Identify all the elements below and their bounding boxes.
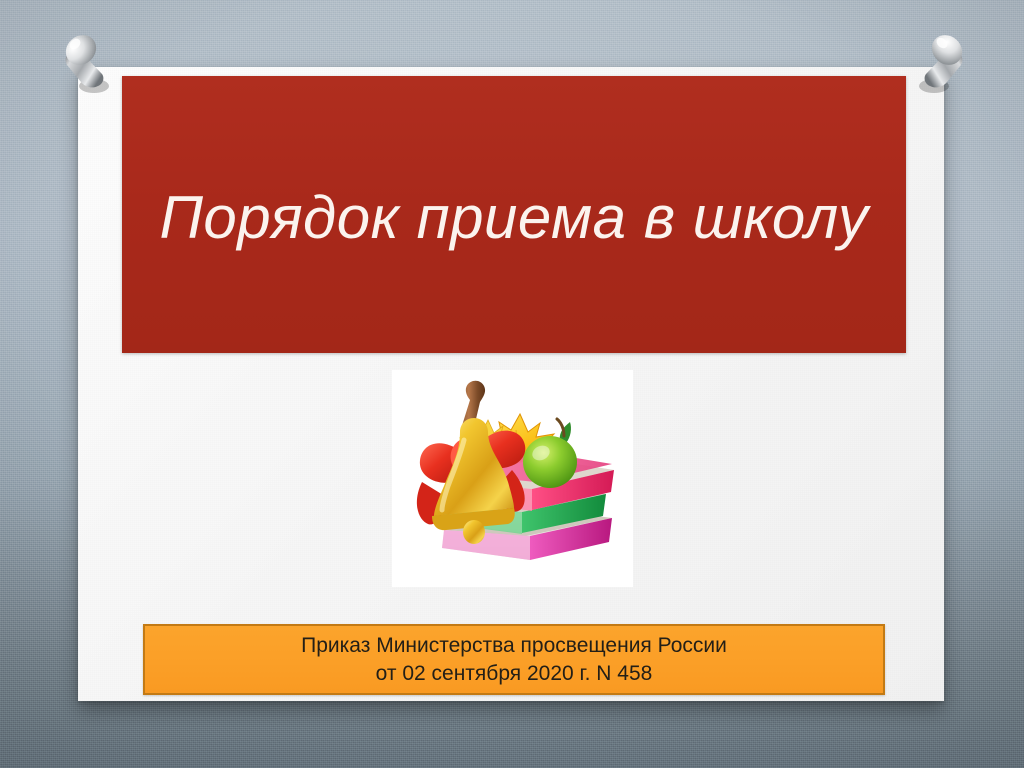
title-box: Порядок приема в школу [122,76,906,353]
caption-line-1: Приказ Министерства просвещения России [301,632,727,660]
pushpin-right-icon [906,30,970,96]
pushpin-left-icon [58,30,122,96]
caption-line-2: от 02 сентября 2020 г. N 458 [376,660,653,688]
clipart-frame [392,370,633,587]
caption-box: Приказ Министерства просвещения России о… [143,624,885,695]
presentation-slide: Порядок приема в школу [0,0,1024,768]
page-title: Порядок приема в школу [141,186,886,251]
school-supplies-illustration [392,370,633,587]
